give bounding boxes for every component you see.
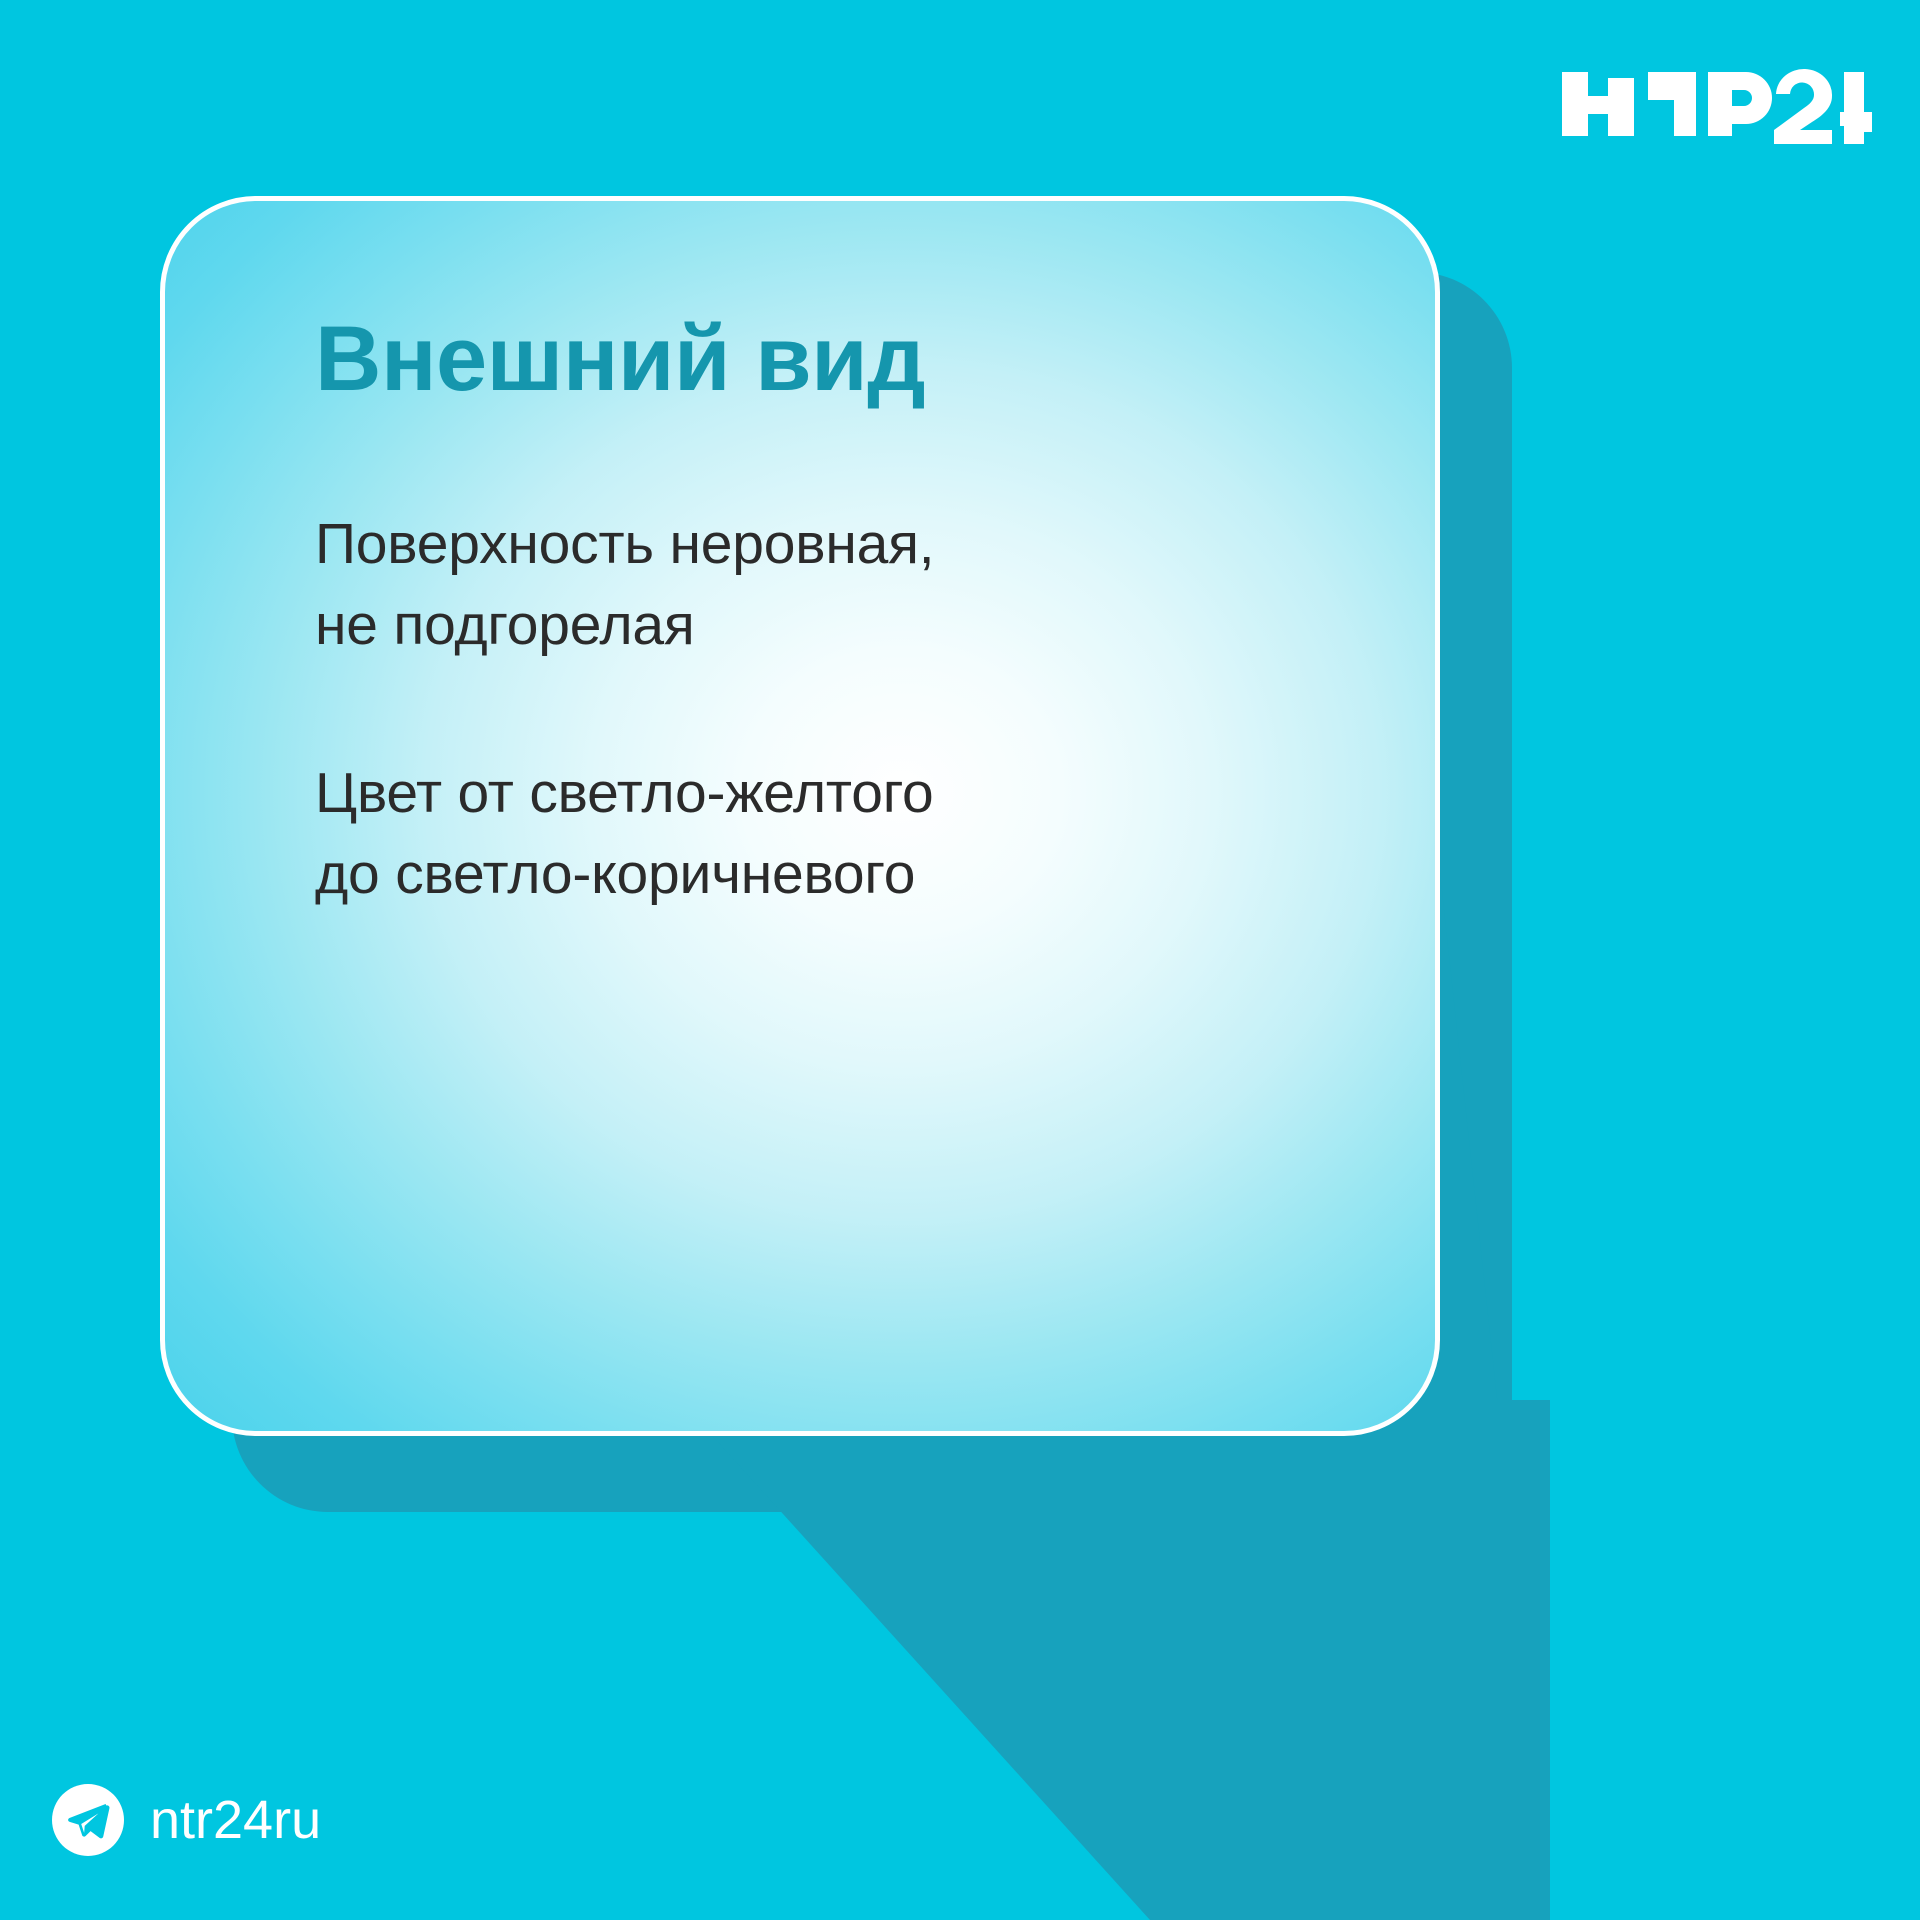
- telegram-icon[interactable]: [52, 1784, 124, 1856]
- slide-canvas: НТР24· Внешний вид Поверхность неровная,…: [0, 0, 1920, 1920]
- body-paragraph-2: Цвет от светло-желтого до светло-коричне…: [315, 753, 1325, 915]
- footer-social[interactable]: ntr24ru: [52, 1784, 321, 1856]
- page-title: Внешний вид: [315, 311, 1325, 408]
- ntr24-logo: НТР24·: [1562, 58, 1872, 150]
- body-paragraph-1: Поверхность неровная, не подгорелая: [315, 504, 1325, 666]
- content-card: Внешний вид Поверхность неровная, не под…: [160, 196, 1440, 1436]
- card-body: Поверхность неровная, не подгорелая Цвет…: [315, 504, 1325, 916]
- footer-handle[interactable]: ntr24ru: [150, 1793, 321, 1847]
